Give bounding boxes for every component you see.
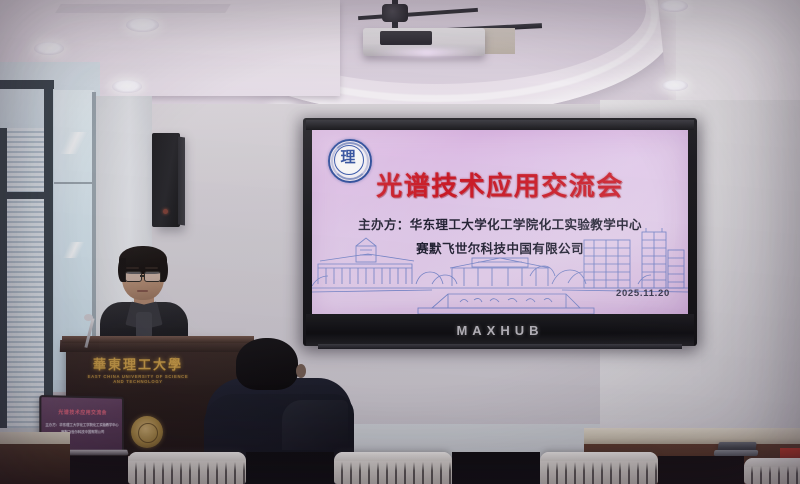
window-frame-left xyxy=(0,128,7,428)
lectern-seal-emblem-icon xyxy=(131,416,163,448)
window-glass-sheen xyxy=(56,132,92,154)
chair-center[interactable] xyxy=(334,452,452,484)
lectern-university-name-cn: 華東理工大學 xyxy=(84,354,192,373)
presenter-glasses-lens-right xyxy=(144,271,161,282)
window-glass-sheen-2 xyxy=(58,242,90,258)
desk-left-front-panel xyxy=(0,444,70,484)
presenter-mouth xyxy=(137,290,148,292)
downlight-5 xyxy=(660,0,688,12)
lectern-microphone-icon xyxy=(84,314,93,321)
lectern-nameplate: 華東理工大學 EAST CHINA UNIVERSITY OF SCIENCE … xyxy=(84,354,192,384)
window-frame-top xyxy=(0,80,54,89)
lectern-seal-inner-ring xyxy=(138,423,158,443)
attendee-head xyxy=(236,338,298,390)
chair-far-right-slots xyxy=(744,466,800,484)
campus-artwork xyxy=(312,228,688,314)
display-screen[interactable]: 理 光谱技术应用交流会 主办方：华东理工大学化工学院化工实验教学中心 赛默飞世尔… xyxy=(312,130,688,314)
downlight-6 xyxy=(662,80,688,91)
chair-center-rim xyxy=(334,452,452,461)
foreground-shadow-band-2 xyxy=(452,452,540,484)
speaker-power-led-icon xyxy=(163,209,168,214)
downlight-2 xyxy=(126,18,159,32)
ceiling-trim-strip xyxy=(55,4,231,13)
presenter-chest-panel xyxy=(136,312,152,338)
window-frame-mid xyxy=(44,82,53,428)
presenter-hair-right xyxy=(160,258,168,282)
lectern-university-name-en: EAST CHINA UNIVERSITY OF SCIENCE AND TEC… xyxy=(84,374,192,384)
slide-title: 光谱技术应用交流会 xyxy=(312,166,688,203)
slide-date: 2025.11.20 xyxy=(616,288,670,299)
attendee-ear xyxy=(296,364,306,378)
campus-line-art-svg xyxy=(312,228,688,314)
display-bottom-edge xyxy=(318,344,682,349)
foreground-shadow-band xyxy=(246,452,334,484)
window-transom xyxy=(54,182,94,184)
display-brand-label: MAXHUB xyxy=(456,323,543,338)
chair-right-rim xyxy=(540,452,658,461)
conference-room-photo: 理 光谱技术应用交流会 主办方：华东理工大学化工学院化工实验教学中心 赛默飞世尔… xyxy=(0,0,800,484)
chair-center-slots xyxy=(334,462,452,484)
foreground-shadow-band-4 xyxy=(70,456,128,484)
laptop-slide-line-1: 主办方：华东理工大学化工学院化工实验教学中心 xyxy=(41,422,122,427)
foreground-shadow-band-3 xyxy=(658,456,744,484)
display-brand-bar: MAXHUB xyxy=(306,314,694,346)
projector-glow xyxy=(372,48,482,57)
chair-left-slots xyxy=(128,462,246,484)
chair-far-right[interactable] xyxy=(744,458,800,484)
laptop-slide-title: 光谱技术应用交流会 xyxy=(41,408,122,416)
presentation-slide: 理 光谱技术应用交流会 主办方：华东理工大学化工学院化工实验教学中心 赛默飞世尔… xyxy=(312,130,688,314)
downlight-1 xyxy=(34,42,64,55)
wall-speaker-side xyxy=(178,137,185,226)
display-bezel-top xyxy=(306,120,694,130)
chair-right-slots xyxy=(540,462,658,484)
presenter-glasses-bridge xyxy=(140,275,144,277)
downlight-3 xyxy=(112,80,142,93)
chair-left-rim xyxy=(128,452,246,461)
attendee-arm xyxy=(282,400,348,450)
projector-vent xyxy=(380,31,432,45)
window-frame-mid-h xyxy=(0,192,50,199)
chair-left[interactable] xyxy=(128,452,246,484)
chair-right[interactable] xyxy=(540,452,658,484)
projector-clamp xyxy=(382,4,408,22)
logo-character: 理 xyxy=(340,149,356,167)
